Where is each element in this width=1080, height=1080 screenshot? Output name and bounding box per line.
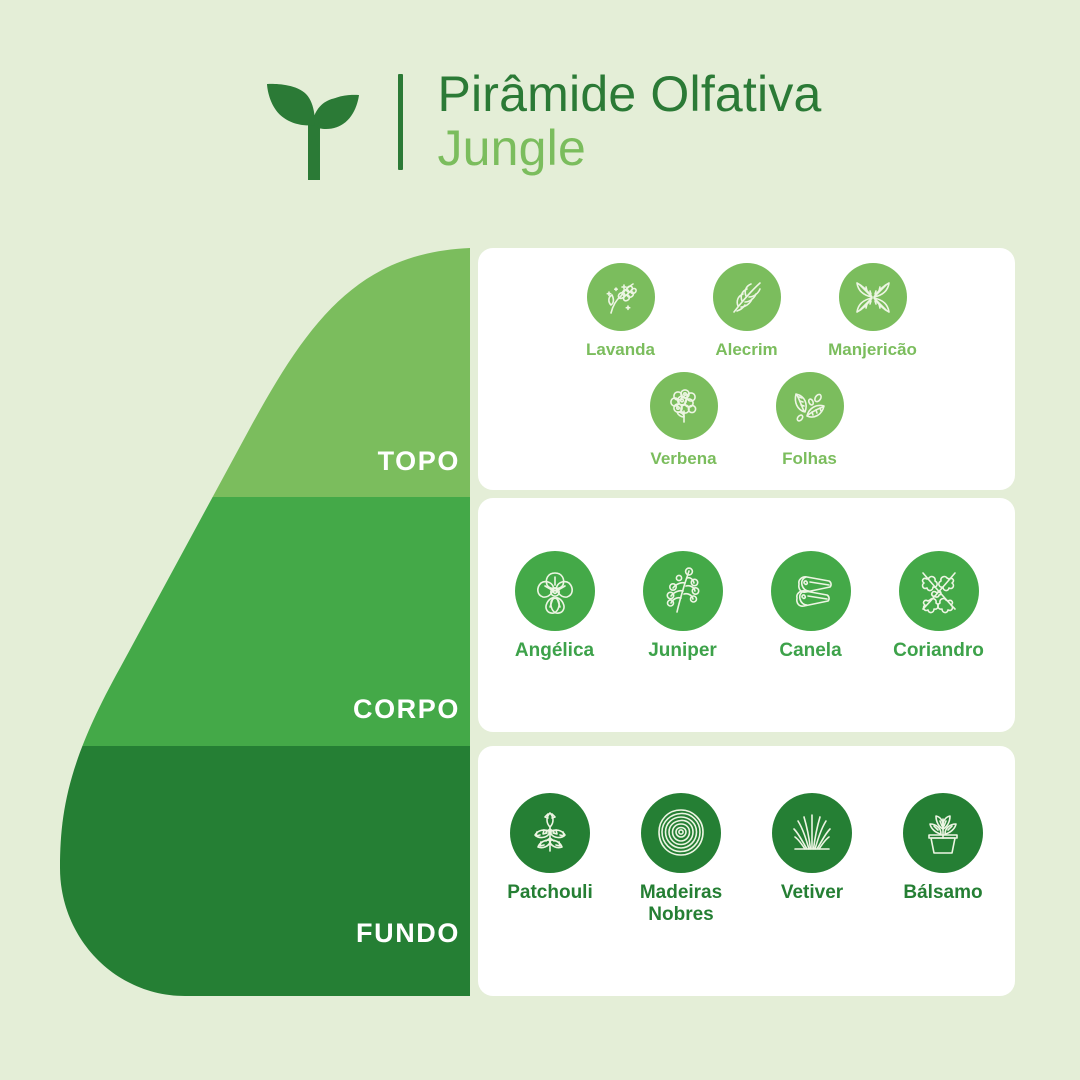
cinnamon-sticks-icon [771, 551, 851, 631]
sprout-leaf-icon [258, 62, 370, 182]
lavender-sprig-icon [587, 263, 655, 331]
notes-row: Patchouli [478, 746, 1015, 927]
note-label: Vetiver [781, 882, 843, 904]
rosemary-branch-icon [713, 263, 781, 331]
juniper-berry-branch-icon [643, 551, 723, 631]
note-label: Canela [779, 640, 841, 662]
note-item-patchouli[interactable]: Patchouli [485, 793, 616, 927]
note-label: Alecrim [715, 340, 777, 360]
note-item-alecrim[interactable]: Alecrim [684, 263, 810, 360]
note-item-balsamo[interactable]: Bálsamo [878, 793, 1009, 927]
page-title: Pirâmide Olfativa [437, 68, 821, 121]
note-item-lavanda[interactable]: Lavanda [558, 263, 684, 360]
note-item-coriandro[interactable]: Coriandro [875, 551, 1003, 662]
note-item-juniper[interactable]: Juniper [619, 551, 747, 662]
pyramid-band-fundo [60, 746, 480, 996]
note-label: Coriandro [893, 640, 984, 662]
note-label: Bálsamo [903, 882, 982, 904]
note-label: Patchouli [507, 882, 593, 904]
page-subtitle: Jungle [437, 121, 821, 176]
pyramid-label-fundo: FUNDO [356, 918, 460, 949]
header-divider [398, 74, 403, 170]
angelica-flower-icon [515, 551, 595, 631]
olfactory-pyramid: TOPO CORPO FUNDO [60, 248, 480, 996]
tree-rings-icon [641, 793, 721, 873]
verbena-flower-cluster-icon [650, 372, 718, 440]
note-item-manjericao[interactable]: Manjericão [810, 263, 936, 360]
note-label: Angélica [515, 640, 594, 662]
note-label: Manjericão [828, 340, 917, 360]
note-item-folhas[interactable]: Folhas [747, 372, 873, 469]
notes-row: Lavanda [478, 248, 1015, 360]
notes-card-top: Lavanda [478, 248, 1015, 490]
note-label: Juniper [648, 640, 717, 662]
notes-row: Verbena [478, 360, 1015, 469]
pyramid-shape [60, 248, 480, 996]
pyramid-label-topo: TOPO [378, 446, 460, 477]
note-item-canela[interactable]: Canela [747, 551, 875, 662]
note-label: Folhas [782, 449, 837, 469]
infographic-root: Pirâmide Olfativa Jungle TOPO CORPO FUND… [0, 0, 1080, 1080]
note-item-vetiver[interactable]: Vetiver [747, 793, 878, 927]
notes-row: Angélica [478, 498, 1015, 662]
notes-card-middle: Angélica [478, 498, 1015, 732]
coriander-leaves-icon [899, 551, 979, 631]
note-label: Verbena [650, 449, 716, 469]
note-item-angelica[interactable]: Angélica [491, 551, 619, 662]
falling-leaves-icon [776, 372, 844, 440]
header: Pirâmide Olfativa Jungle [0, 62, 1080, 182]
pyramid-label-corpo: CORPO [353, 694, 460, 725]
note-label: Madeiras Nobres [640, 882, 722, 927]
header-title-block: Pirâmide Olfativa Jungle [437, 68, 821, 176]
note-item-verbena[interactable]: Verbena [621, 372, 747, 469]
basil-leaves-icon [839, 263, 907, 331]
vetiver-grass-icon [772, 793, 852, 873]
note-label: Lavanda [586, 340, 655, 360]
note-item-madeiras-nobres[interactable]: Madeiras Nobres [616, 793, 747, 927]
potted-plant-icon [903, 793, 983, 873]
notes-card-bottom: Patchouli [478, 746, 1015, 996]
patchouli-leaves-icon [510, 793, 590, 873]
